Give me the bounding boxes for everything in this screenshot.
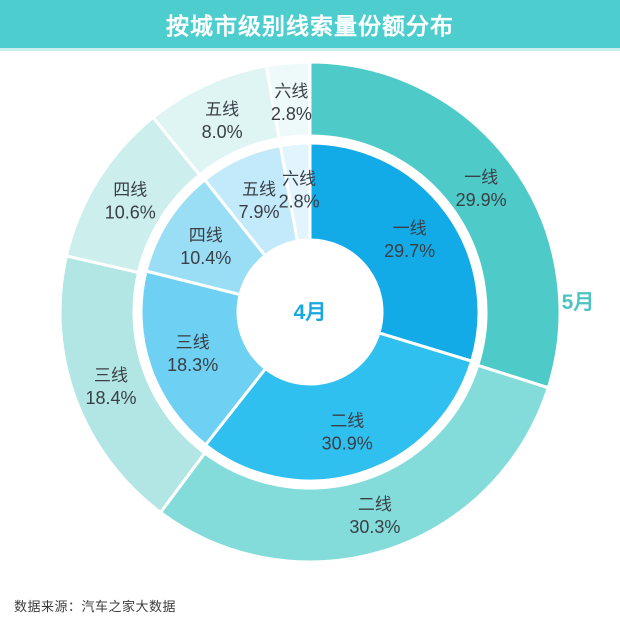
segment-value-label: 30.3% [349,517,400,537]
segment-value-label: 30.9% [322,433,373,453]
segment-name-label: 六线 [282,169,316,188]
segment-name-label: 四线 [113,181,147,200]
center-month-label: 4月 [294,301,327,324]
chart-header-bar: 按城市级别线索量份额分布 [0,0,620,48]
segment-value-label: 8.0% [202,122,243,142]
segment-value-label: 29.7% [384,241,435,261]
segment-name-label: 四线 [189,226,223,245]
donut-chart-svg: 一线29.9%二线30.3%三线18.4%四线10.6%五线8.0%六线2.8%… [0,51,620,571]
segment-name-label: 二线 [358,495,392,514]
nested-donut-chart: 一线29.9%二线30.3%三线18.4%四线10.6%五线8.0%六线2.8%… [0,51,620,571]
segment-name-label: 二线 [330,411,364,430]
segment-value-label: 29.9% [456,190,507,210]
segment-name-label: 三线 [176,333,210,352]
segment-value-label: 18.3% [167,355,218,375]
page-title: 按城市级别线索量份额分布 [0,0,620,48]
segment-value-label: 10.4% [180,248,231,268]
segment-value-label: 2.8% [271,104,312,124]
data-source-note: 数据来源：汽车之家大数据 [14,596,176,615]
segment-name-label: 一线 [464,168,498,187]
segment-name-label: 五线 [205,100,239,119]
segment-value-label: 18.4% [85,388,136,408]
segment-value-label: 10.6% [105,203,156,223]
segment-name-label: 六线 [274,82,308,101]
outer-ring-month-label: 5月 [562,291,595,314]
segment-name-label: 三线 [94,366,128,385]
segment-name-label: 五线 [242,180,276,199]
segment-value-label: 2.8% [279,191,320,211]
segment-value-label: 7.9% [238,202,279,222]
segment-name-label: 一线 [393,219,427,238]
